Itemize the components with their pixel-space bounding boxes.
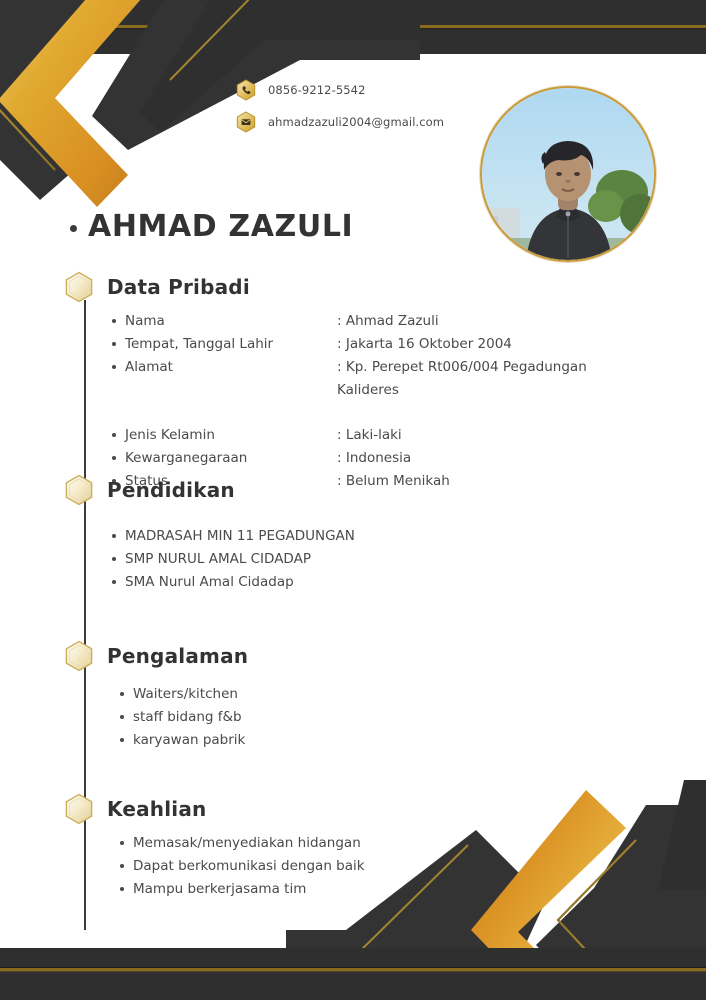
envelope-icon [236, 111, 256, 133]
section-header-pengalaman: Pengalaman [62, 639, 248, 673]
list-item-label: SMA Nurul Amal Cidadap [125, 571, 294, 594]
phone-icon [236, 79, 256, 101]
table-row: Tempat, Tanggal Lahir : Jakarta 16 Oktob… [112, 333, 612, 356]
bullet-icon [112, 580, 116, 584]
bullet-icon [120, 738, 124, 742]
data-pribadi-group-one: Nama : Ahmad Zazuli Tempat, Tanggal Lahi… [112, 310, 612, 402]
section-keahlian: Keahlian Memasak/menyediakan hidangan Da… [62, 792, 365, 901]
spacer [112, 402, 612, 418]
field-label: Jenis Kelamin [125, 424, 215, 447]
section-header-keahlian: Keahlian [62, 792, 365, 826]
list-item-label: Memasak/menyediakan hidangan [133, 832, 361, 855]
bullet-icon [112, 534, 116, 538]
table-row: Nama : Ahmad Zazuli [112, 310, 612, 333]
list-item: karyawan pabrik [120, 729, 248, 752]
field-label: Kewarganegaraan [125, 447, 247, 470]
section-pendidikan: Pendidikan MADRASAH MIN 11 PEGADUNGAN SM… [62, 473, 355, 594]
full-name: AHMAD ZAZULI [88, 209, 353, 244]
list-item-label: Waiters/kitchen [133, 683, 238, 706]
list-item: staff bidang f&b [120, 706, 248, 729]
bullet-icon [112, 557, 116, 561]
hexagon-icon [62, 792, 96, 826]
hexagon-icon [62, 473, 96, 507]
table-row: Kewarganegaraan : Indonesia [112, 447, 612, 470]
email-address: ahmadzazuli2004@gmail.com [268, 115, 444, 129]
table-row: Jenis Kelamin : Laki-laki [112, 424, 612, 447]
field-label: Nama [125, 310, 165, 333]
hexagon-icon [62, 270, 96, 304]
bottom-bar-decoration [0, 948, 706, 1000]
list-item-label: staff bidang f&b [133, 706, 242, 729]
section-data-pribadi: Data Pribadi Nama : Ahmad Zazuli Tempat,… [62, 270, 612, 493]
bullet-icon [112, 319, 116, 323]
list-item-label: MADRASAH MIN 11 PEGADUNGAN [125, 525, 355, 548]
bullet-icon [120, 841, 124, 845]
section-header-data-pribadi: Data Pribadi [62, 270, 612, 304]
page-title: AHMAD ZAZULI [70, 209, 353, 244]
list-item: MADRASAH MIN 11 PEGADUNGAN [112, 525, 355, 548]
keahlian-list: Memasak/menyediakan hidangan Dapat berko… [120, 832, 365, 901]
bullet-icon [112, 342, 116, 346]
phone-number: 0856-9212-5542 [268, 83, 366, 97]
section-title: Keahlian [107, 797, 207, 821]
list-item-label: Mampu berkerjasama tim [133, 878, 306, 901]
list-item: Dapat berkomunikasi dengan baik [120, 855, 365, 878]
pengalaman-list: Waiters/kitchen staff bidang f&b karyawa… [120, 683, 248, 752]
field-value: : Jakarta 16 Oktober 2004 [337, 333, 512, 356]
data-pribadi-table: Nama : Ahmad Zazuli Tempat, Tanggal Lahi… [112, 310, 612, 493]
section-title: Pengalaman [107, 644, 248, 668]
list-item-label: karyawan pabrik [133, 729, 245, 752]
list-item-label: SMP NURUL AMAL CIDADAP [125, 548, 311, 571]
bullet-icon [112, 456, 116, 460]
contact-row-phone: 0856-9212-5542 [236, 76, 444, 104]
list-item: SMA Nurul Amal Cidadap [112, 571, 355, 594]
field-value: : Kp. Perepet Rt006/004 Pegadungan Kalid… [337, 356, 612, 402]
bullet-icon [120, 692, 124, 696]
bullet-icon [112, 365, 116, 369]
bullet-icon [120, 864, 124, 868]
field-value: : Indonesia [337, 447, 411, 470]
list-item: Mampu berkerjasama tim [120, 878, 365, 901]
table-row: Alamat : Kp. Perepet Rt006/004 Pegadunga… [112, 356, 612, 402]
list-item-label: Dapat berkomunikasi dengan baik [133, 855, 365, 878]
pendidikan-list: MADRASAH MIN 11 PEGADUNGAN SMP NURUL AMA… [112, 525, 355, 594]
bullet-icon [120, 715, 124, 719]
field-label: Alamat [125, 356, 173, 379]
section-header-pendidikan: Pendidikan [62, 473, 355, 507]
list-item: Memasak/menyediakan hidangan [120, 832, 365, 855]
name-bullet-icon [70, 225, 77, 232]
bullet-icon [112, 433, 116, 437]
section-pengalaman: Pengalaman Waiters/kitchen staff bidang … [62, 639, 248, 752]
contact-block: 0856-9212-5542 ahmadzazuli2004@gmail.com [236, 76, 444, 140]
contact-row-email: ahmadzazuli2004@gmail.com [236, 108, 444, 136]
profile-photo [480, 86, 656, 262]
field-value: : Ahmad Zazuli [337, 310, 439, 333]
section-title: Data Pribadi [107, 275, 250, 299]
list-item: Waiters/kitchen [120, 683, 248, 706]
bullet-icon [120, 887, 124, 891]
field-value: : Laki-laki [337, 424, 402, 447]
list-item: SMP NURUL AMAL CIDADAP [112, 548, 355, 571]
cv-page: 0856-9212-5542 ahmadzazuli2004@gmail.com [0, 0, 706, 1000]
section-title: Pendidikan [107, 478, 235, 502]
field-label: Tempat, Tanggal Lahir [125, 333, 273, 356]
hexagon-icon [62, 639, 96, 673]
top-bar-decoration [0, 0, 706, 54]
